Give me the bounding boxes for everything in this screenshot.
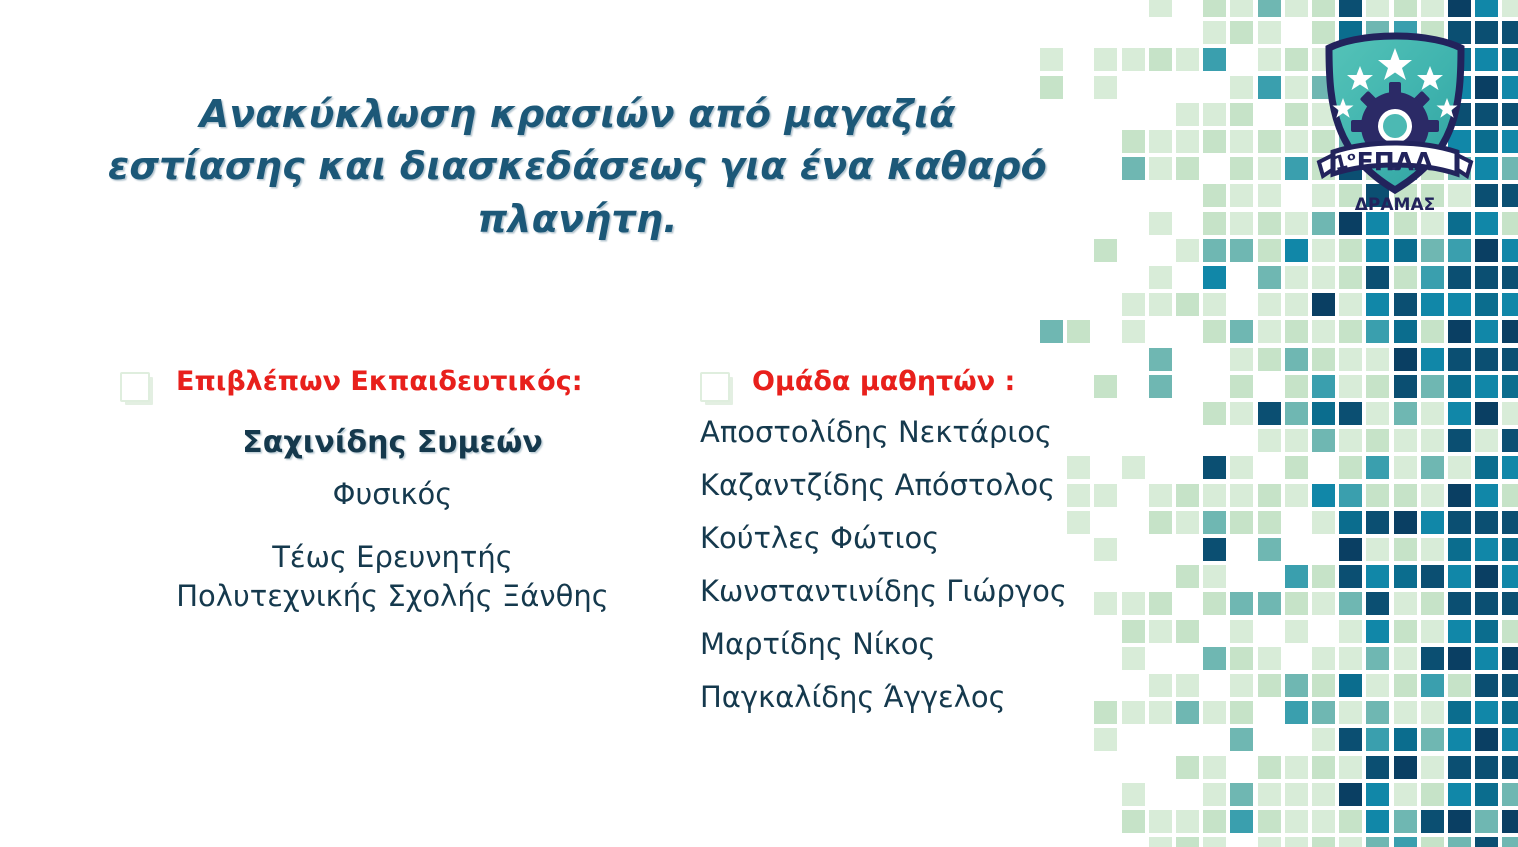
mosaic-tile xyxy=(1285,212,1308,235)
mosaic-tile xyxy=(1394,375,1417,398)
mosaic-tile xyxy=(1230,402,1253,425)
mosaic-tile xyxy=(1149,674,1172,697)
mosaic-tile xyxy=(1230,239,1253,262)
students-heading: Ομάδα μαθητών : xyxy=(752,365,1015,399)
mosaic-tile xyxy=(1258,76,1281,99)
mosaic-tile xyxy=(1421,565,1444,588)
mosaic-tile xyxy=(1502,348,1518,371)
mosaic-tile xyxy=(1230,484,1253,507)
mosaic-tile xyxy=(1203,103,1226,126)
supervisor-heading: Επιβλέπων Εκπαιδευτικός: xyxy=(176,365,583,399)
mosaic-tile xyxy=(1421,239,1444,262)
mosaic-tile xyxy=(1366,348,1389,371)
mosaic-tile xyxy=(1230,157,1253,180)
mosaic-tile xyxy=(1502,592,1518,615)
mosaic-tile xyxy=(1475,538,1498,561)
supervisor-name: Σαχινίδης Συμεών xyxy=(120,425,665,462)
mosaic-tile xyxy=(1203,130,1226,153)
mosaic-tile xyxy=(1475,293,1498,316)
mosaic-tile xyxy=(1312,837,1335,847)
mosaic-tile xyxy=(1448,728,1471,751)
mosaic-tile xyxy=(1448,810,1471,833)
mosaic-tile xyxy=(1094,239,1117,262)
mosaic-tile xyxy=(1258,810,1281,833)
mosaic-tile xyxy=(1421,266,1444,289)
mosaic-tile xyxy=(1339,592,1362,615)
mosaic-tile xyxy=(1366,538,1389,561)
mosaic-tile xyxy=(1149,620,1172,643)
mosaic-tile xyxy=(1448,674,1471,697)
mosaic-tile xyxy=(1339,456,1362,479)
mosaic-tile xyxy=(1502,320,1518,343)
mosaic-tile xyxy=(1475,810,1498,833)
mosaic-tile xyxy=(1366,837,1389,847)
mosaic-tile xyxy=(1176,157,1199,180)
mosaic-tile xyxy=(1285,810,1308,833)
mosaic-tile xyxy=(1149,484,1172,507)
mosaic-tile xyxy=(1122,810,1145,833)
mosaic-tile xyxy=(1312,293,1335,316)
mosaic-tile xyxy=(1421,592,1444,615)
mosaic-tile xyxy=(1230,184,1253,207)
mosaic-tile xyxy=(1230,456,1253,479)
mosaic-tile xyxy=(1502,538,1518,561)
mosaic-tile xyxy=(1203,21,1226,44)
mosaic-tile xyxy=(1502,184,1518,207)
mosaic-tile xyxy=(1312,484,1335,507)
svg-text:ΕΠΑΛ: ΕΠΑΛ xyxy=(1357,147,1434,176)
mosaic-tile xyxy=(1258,511,1281,534)
mosaic-tile xyxy=(1176,293,1199,316)
mosaic-tile xyxy=(1149,837,1172,847)
mosaic-tile xyxy=(1312,701,1335,724)
mosaic-tile xyxy=(1176,511,1199,534)
mosaic-tile xyxy=(1394,266,1417,289)
mosaic-tile xyxy=(1421,620,1444,643)
mosaic-tile xyxy=(1421,647,1444,670)
mosaic-tile xyxy=(1176,130,1199,153)
mosaic-tile xyxy=(1122,647,1145,670)
supervisor-affiliation-line2: Πολυτεχνικής Σχολής Ξάνθης xyxy=(120,577,665,616)
mosaic-tile xyxy=(1421,402,1444,425)
mosaic-tile xyxy=(1312,0,1335,17)
mosaic-tile xyxy=(1258,538,1281,561)
supervisor-affiliation-line1: Τέως Ερευνητής xyxy=(120,538,665,577)
mosaic-tile xyxy=(1312,565,1335,588)
mosaic-tile xyxy=(1258,320,1281,343)
mosaic-tile xyxy=(1094,728,1117,751)
mosaic-tile xyxy=(1502,103,1518,126)
mosaic-tile xyxy=(1475,837,1498,847)
mosaic-tile xyxy=(1448,701,1471,724)
mosaic-tile xyxy=(1312,783,1335,806)
mosaic-tile xyxy=(1475,456,1498,479)
mosaic-tile xyxy=(1448,429,1471,452)
mosaic-tile xyxy=(1203,783,1226,806)
mosaic-tile xyxy=(1285,701,1308,724)
mosaic-tile xyxy=(1502,157,1518,180)
mosaic-tile xyxy=(1258,756,1281,779)
mosaic-tile xyxy=(1176,103,1199,126)
mosaic-tile xyxy=(1394,402,1417,425)
mosaic-tile xyxy=(1203,402,1226,425)
mosaic-tile xyxy=(1502,647,1518,670)
mosaic-tile xyxy=(1040,320,1063,343)
mosaic-tile xyxy=(1285,620,1308,643)
mosaic-tile xyxy=(1475,620,1498,643)
mosaic-tile xyxy=(1421,375,1444,398)
mosaic-tile xyxy=(1122,48,1145,71)
mosaic-tile xyxy=(1203,212,1226,235)
mosaic-tile xyxy=(1258,429,1281,452)
mosaic-tile xyxy=(1149,266,1172,289)
mosaic-tile xyxy=(1285,103,1308,126)
mosaic-tile xyxy=(1258,348,1281,371)
mosaic-tile xyxy=(1122,293,1145,316)
mosaic-tile xyxy=(1421,783,1444,806)
mosaic-tile xyxy=(1366,429,1389,452)
mosaic-tile xyxy=(1230,511,1253,534)
mosaic-tile xyxy=(1339,348,1362,371)
mosaic-tile xyxy=(1394,239,1417,262)
mosaic-tile xyxy=(1502,402,1518,425)
mosaic-tile xyxy=(1421,511,1444,534)
mosaic-tile xyxy=(1502,674,1518,697)
mosaic-tile xyxy=(1502,783,1518,806)
mosaic-tile xyxy=(1448,511,1471,534)
mosaic-tile xyxy=(1339,402,1362,425)
mosaic-tile xyxy=(1339,701,1362,724)
mosaic-tile xyxy=(1421,756,1444,779)
mosaic-tile xyxy=(1394,674,1417,697)
mosaic-tile xyxy=(1258,293,1281,316)
mosaic-tile xyxy=(1421,429,1444,452)
mosaic-tile xyxy=(1502,701,1518,724)
mosaic-tile xyxy=(1448,837,1471,847)
mosaic-tile xyxy=(1475,348,1498,371)
mosaic-tile xyxy=(1122,620,1145,643)
mosaic-tile xyxy=(1339,239,1362,262)
mosaic-tile xyxy=(1502,728,1518,751)
mosaic-tile xyxy=(1394,756,1417,779)
mosaic-tile xyxy=(1502,620,1518,643)
mosaic-tile xyxy=(1502,810,1518,833)
mosaic-tile xyxy=(1122,157,1145,180)
mosaic-tile xyxy=(1149,48,1172,71)
mosaic-tile xyxy=(1176,620,1199,643)
mosaic-tile xyxy=(1448,0,1471,17)
mosaic-tile xyxy=(1448,783,1471,806)
mosaic-tile xyxy=(1149,157,1172,180)
mosaic-tile xyxy=(1149,592,1172,615)
mosaic-tile xyxy=(1230,592,1253,615)
mosaic-tile xyxy=(1394,728,1417,751)
mosaic-tile xyxy=(1502,456,1518,479)
mosaic-tile xyxy=(1502,565,1518,588)
mosaic-tile xyxy=(1285,783,1308,806)
mosaic-tile xyxy=(1285,320,1308,343)
mosaic-tile xyxy=(1203,48,1226,71)
mosaic-tile xyxy=(1285,484,1308,507)
mosaic-tile xyxy=(1122,783,1145,806)
mosaic-tile xyxy=(1312,756,1335,779)
mosaic-tile xyxy=(1149,701,1172,724)
mosaic-tile xyxy=(1339,320,1362,343)
mosaic-tile xyxy=(1475,511,1498,534)
mosaic-tile xyxy=(1448,266,1471,289)
mosaic-tile xyxy=(1475,728,1498,751)
mosaic-tile xyxy=(1258,157,1281,180)
mosaic-tile xyxy=(1502,484,1518,507)
mosaic-tile xyxy=(1394,511,1417,534)
mosaic-tile xyxy=(1176,756,1199,779)
mosaic-tile xyxy=(1448,320,1471,343)
mosaic-tile xyxy=(1230,103,1253,126)
mosaic-tile xyxy=(1230,728,1253,751)
mosaic-tile xyxy=(1448,293,1471,316)
mosaic-tile xyxy=(1149,348,1172,371)
mosaic-tile xyxy=(1040,48,1063,71)
mosaic-tile xyxy=(1285,239,1308,262)
mosaic-tile xyxy=(1203,320,1226,343)
mosaic-tile xyxy=(1176,837,1199,847)
mosaic-tile xyxy=(1258,647,1281,670)
mosaic-tile xyxy=(1339,837,1362,847)
mosaic-tile xyxy=(1122,701,1145,724)
mosaic-tile xyxy=(1203,511,1226,534)
mosaic-tile xyxy=(1339,620,1362,643)
mosaic-tile xyxy=(1230,620,1253,643)
mosaic-tile xyxy=(1339,484,1362,507)
mosaic-tile xyxy=(1366,674,1389,697)
mosaic-tile xyxy=(1448,402,1471,425)
mosaic-tile xyxy=(1230,701,1253,724)
mosaic-tile xyxy=(1230,783,1253,806)
mosaic-tile xyxy=(1339,266,1362,289)
mosaic-tile xyxy=(1421,456,1444,479)
mosaic-tile xyxy=(1149,810,1172,833)
mosaic-tile xyxy=(1312,402,1335,425)
mosaic-tile xyxy=(1475,592,1498,615)
mosaic-tile xyxy=(1176,484,1199,507)
mosaic-tile xyxy=(1366,511,1389,534)
mosaic-tile xyxy=(1230,0,1253,17)
mosaic-tile xyxy=(1230,320,1253,343)
mosaic-tile xyxy=(1502,429,1518,452)
mosaic-tile xyxy=(1475,647,1498,670)
mosaic-tile xyxy=(1094,76,1117,99)
mosaic-tile xyxy=(1339,810,1362,833)
mosaic-tile xyxy=(1394,484,1417,507)
mosaic-tile xyxy=(1258,21,1281,44)
mosaic-tile xyxy=(1448,239,1471,262)
mosaic-tile xyxy=(1339,565,1362,588)
mosaic-tile xyxy=(1339,429,1362,452)
mosaic-tile xyxy=(1203,184,1226,207)
mosaic-tile xyxy=(1366,783,1389,806)
list-item: Μαρτίδης Νίκος xyxy=(700,630,1120,659)
mosaic-tile xyxy=(1421,484,1444,507)
mosaic-tile xyxy=(1339,538,1362,561)
mosaic-tile xyxy=(1312,674,1335,697)
mosaic-tile xyxy=(1285,48,1308,71)
mosaic-tile xyxy=(1285,592,1308,615)
mosaic-tile xyxy=(1258,0,1281,17)
mosaic-tile xyxy=(1366,620,1389,643)
mosaic-tile xyxy=(1122,592,1145,615)
mosaic-tile xyxy=(1366,239,1389,262)
mosaic-tile xyxy=(1448,756,1471,779)
mosaic-tile xyxy=(1421,674,1444,697)
mosaic-tile xyxy=(1339,674,1362,697)
mosaic-tile xyxy=(1285,76,1308,99)
mosaic-tile xyxy=(1230,375,1253,398)
mosaic-tile xyxy=(1258,130,1281,153)
mosaic-tile xyxy=(1502,239,1518,262)
mosaic-tile xyxy=(1203,647,1226,670)
mosaic-tile xyxy=(1448,538,1471,561)
mosaic-tile xyxy=(1394,592,1417,615)
mosaic-tile xyxy=(1203,538,1226,561)
mosaic-tile xyxy=(1502,48,1518,71)
mosaic-tile xyxy=(1366,728,1389,751)
mosaic-tile xyxy=(1258,266,1281,289)
mosaic-tile xyxy=(1285,565,1308,588)
mosaic-tile xyxy=(1502,130,1518,153)
mosaic-tile xyxy=(1203,592,1226,615)
mosaic-tile xyxy=(1285,130,1308,153)
supervisor-block: Επιβλέπων Εκπαιδευτικός: Σαχινίδης Συμεώ… xyxy=(120,365,665,615)
mosaic-tile xyxy=(1285,429,1308,452)
mosaic-tile xyxy=(1394,293,1417,316)
mosaic-tile xyxy=(1448,484,1471,507)
mosaic-tile xyxy=(1203,484,1226,507)
mosaic-tile xyxy=(1502,0,1518,17)
mosaic-tile xyxy=(1502,21,1518,44)
mosaic-tile xyxy=(1230,212,1253,235)
mosaic-tile xyxy=(1475,701,1498,724)
mosaic-tile xyxy=(1339,293,1362,316)
mosaic-tile xyxy=(1421,810,1444,833)
mosaic-tile xyxy=(1339,783,1362,806)
mosaic-tile xyxy=(1394,456,1417,479)
mosaic-tile xyxy=(1176,701,1199,724)
mosaic-tile xyxy=(1366,456,1389,479)
mosaic-tile xyxy=(1285,674,1308,697)
mosaic-tile xyxy=(1502,511,1518,534)
mosaic-tile xyxy=(1230,130,1253,153)
mosaic-tile xyxy=(1475,320,1498,343)
mosaic-tile xyxy=(1285,293,1308,316)
mosaic-tile xyxy=(1312,728,1335,751)
mosaic-tile xyxy=(1366,701,1389,724)
mosaic-tile xyxy=(1067,320,1090,343)
mosaic-tile xyxy=(1285,348,1308,371)
mosaic-tile xyxy=(1475,565,1498,588)
school-shield-emblem-icon: ΕΠΑΛ 1ᵒ ΔΡΑΜΑΣ xyxy=(1309,22,1481,220)
mosaic-tile xyxy=(1258,48,1281,71)
mosaic-tile xyxy=(1366,266,1389,289)
mosaic-tile xyxy=(1230,674,1253,697)
mosaic-tile xyxy=(1149,375,1172,398)
mosaic-tile xyxy=(1366,565,1389,588)
mosaic-tile xyxy=(1176,674,1199,697)
mosaic-tile xyxy=(1502,756,1518,779)
mosaic-tile xyxy=(1230,647,1253,670)
mosaic-tile xyxy=(1230,21,1253,44)
list-item: Παγκαλίδης Άγγελος xyxy=(700,683,1120,712)
mosaic-tile xyxy=(1149,0,1172,17)
students-heading-row: Ομάδα μαθητών : xyxy=(700,365,1120,402)
mosaic-tile xyxy=(1339,511,1362,534)
mosaic-tile xyxy=(1339,647,1362,670)
mosaic-tile xyxy=(1502,212,1518,235)
mosaic-tile xyxy=(1448,456,1471,479)
mosaic-tile xyxy=(1339,728,1362,751)
mosaic-tile xyxy=(1285,0,1308,17)
mosaic-tile xyxy=(1421,728,1444,751)
mosaic-tile xyxy=(1258,783,1281,806)
mosaic-tile xyxy=(1366,375,1389,398)
mosaic-tile xyxy=(1230,348,1253,371)
mosaic-tile xyxy=(1448,348,1471,371)
list-item: Αποστολίδης Νεκτάριος xyxy=(700,418,1120,447)
mosaic-tile xyxy=(1230,76,1253,99)
mosaic-tile xyxy=(1203,0,1226,17)
presentation-slide: Ανακύκλωση κρασιών από μαγαζιά εστίασης … xyxy=(0,0,1518,847)
mosaic-tile xyxy=(1203,810,1226,833)
list-item: Καζαντζίδης Απόστολος xyxy=(700,471,1120,500)
mosaic-tile xyxy=(1394,348,1417,371)
mosaic-tile xyxy=(1258,212,1281,235)
mosaic-tile xyxy=(1366,293,1389,316)
mosaic-tile xyxy=(1502,266,1518,289)
mosaic-tile xyxy=(1312,239,1335,262)
mosaic-tile xyxy=(1285,157,1308,180)
mosaic-tile xyxy=(1258,837,1281,847)
mosaic-tile xyxy=(1475,756,1498,779)
mosaic-tile xyxy=(1285,456,1308,479)
mosaic-tile xyxy=(1421,293,1444,316)
mosaic-tile xyxy=(1122,320,1145,343)
mosaic-tile xyxy=(1366,320,1389,343)
mosaic-tile xyxy=(1394,810,1417,833)
mosaic-tile xyxy=(1176,565,1199,588)
mosaic-tile xyxy=(1475,402,1498,425)
mosaic-tile xyxy=(1230,810,1253,833)
mosaic-tile xyxy=(1366,810,1389,833)
mosaic-tile xyxy=(1421,0,1444,17)
mosaic-tile xyxy=(1394,837,1417,847)
mosaic-tile xyxy=(1258,402,1281,425)
mosaic-tile xyxy=(1285,266,1308,289)
mosaic-tile xyxy=(1258,184,1281,207)
mosaic-tile xyxy=(1312,647,1335,670)
mosaic-tile xyxy=(1176,239,1199,262)
supervisor-role: Φυσικός xyxy=(120,477,665,512)
mosaic-tile xyxy=(1421,538,1444,561)
mosaic-tile xyxy=(1149,511,1172,534)
students-list: Αποστολίδης ΝεκτάριοςΚαζαντζίδης Απόστολ… xyxy=(700,418,1120,712)
mosaic-tile xyxy=(1475,783,1498,806)
mosaic-tile xyxy=(1366,0,1389,17)
mosaic-tile xyxy=(1312,348,1335,371)
mosaic-tile xyxy=(1502,837,1518,847)
mosaic-tile xyxy=(1122,456,1145,479)
mosaic-tile xyxy=(1285,837,1308,847)
mosaic-tile xyxy=(1448,647,1471,670)
mosaic-tile xyxy=(1258,592,1281,615)
